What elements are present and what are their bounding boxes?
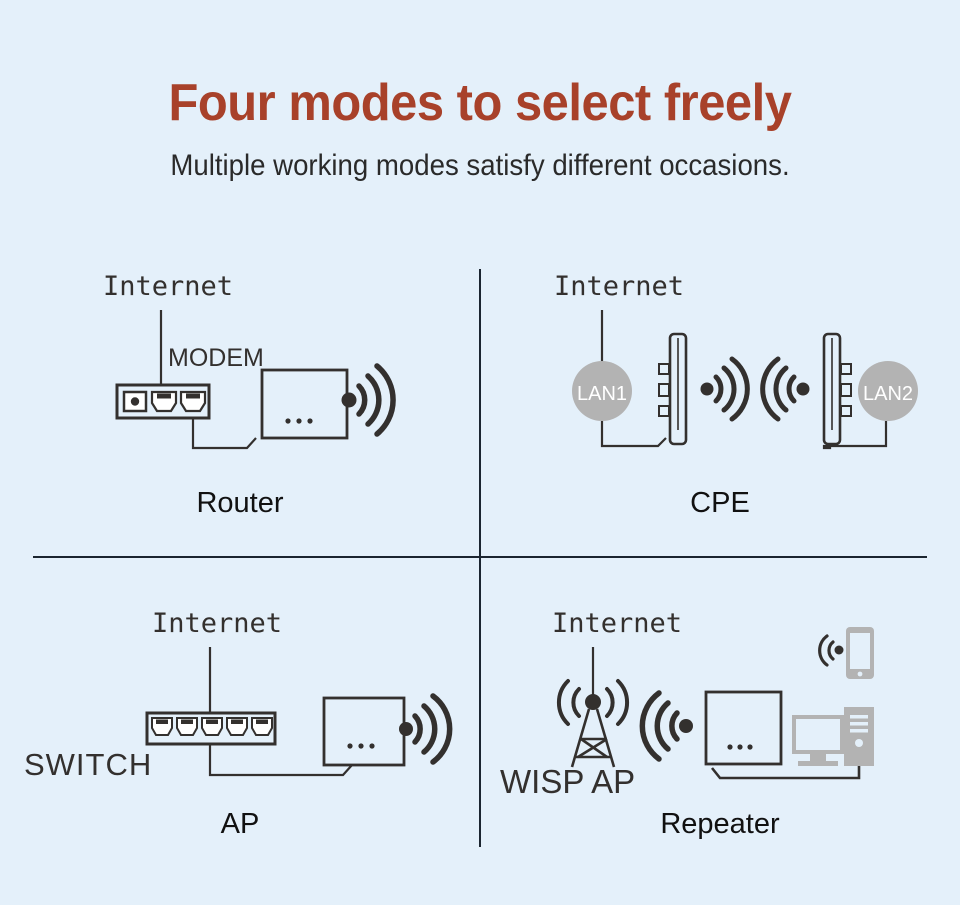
internet-label-ap: Internet [152,608,282,639]
wifi-small-icon [820,636,844,665]
cpe-diagram: Internet LAN1 [480,248,960,488]
ethernet-cable [712,766,859,778]
wifi-signal-left-icon [763,359,810,419]
lan1-cable [602,421,666,446]
page-subtitle: Multiple working modes satisfy different… [38,134,921,184]
switch-icon [147,713,275,744]
wifi-signal-icon [399,696,450,762]
repeater-diagram: Internet [480,585,960,815]
mode-card-ap[interactable]: Internet [0,585,480,885]
internet-label-cpe: Internet [554,271,684,302]
router-box-icon [262,370,347,438]
internet-label-repeater: Internet [552,608,682,639]
modem-icon [117,385,209,418]
cpe-panel-left-icon [659,334,686,444]
ethernet-cable [193,418,256,448]
repeater-box-icon [706,692,781,764]
mode-label-cpe: CPE [480,486,960,520]
router-diagram: Internet MODEM [0,248,480,488]
mode-card-repeater[interactable]: Internet [480,585,960,885]
mode-label-repeater: Repeater [480,807,960,841]
page-title: Four modes to select freely [29,0,931,134]
ap-diagram: Internet [0,585,480,815]
mode-label-ap: AP [0,807,480,841]
smartphone-icon [846,627,874,679]
mode-selection-page: Four modes to select freely Multiple wor… [0,0,960,905]
mode-card-cpe[interactable]: Internet LAN1 [480,248,960,548]
wifi-signal-icon [642,693,693,759]
ap-box-icon [324,698,404,765]
mode-card-router[interactable]: Internet MODEM [0,248,480,548]
wisp-ap-label: WISP AP [500,763,635,800]
lan2-node-icon: LAN2 [858,361,918,421]
wifi-signal-right-icon [701,359,748,419]
mode-label-router: Router [0,486,480,520]
lan1-node-icon: LAN1 [572,361,632,421]
switch-label: SWITCH [24,747,152,782]
ethernet-cable [210,744,352,775]
header: Four modes to select freely Multiple wor… [0,0,960,184]
lan1-label: LAN1 [577,383,627,405]
desktop-pc-icon [792,707,874,766]
cpe-panel-right-icon [824,334,851,444]
modem-label: MODEM [168,344,264,372]
lan2-label: LAN2 [863,383,913,405]
wifi-signal-icon [342,366,394,434]
internet-label-router: Internet [103,271,233,302]
